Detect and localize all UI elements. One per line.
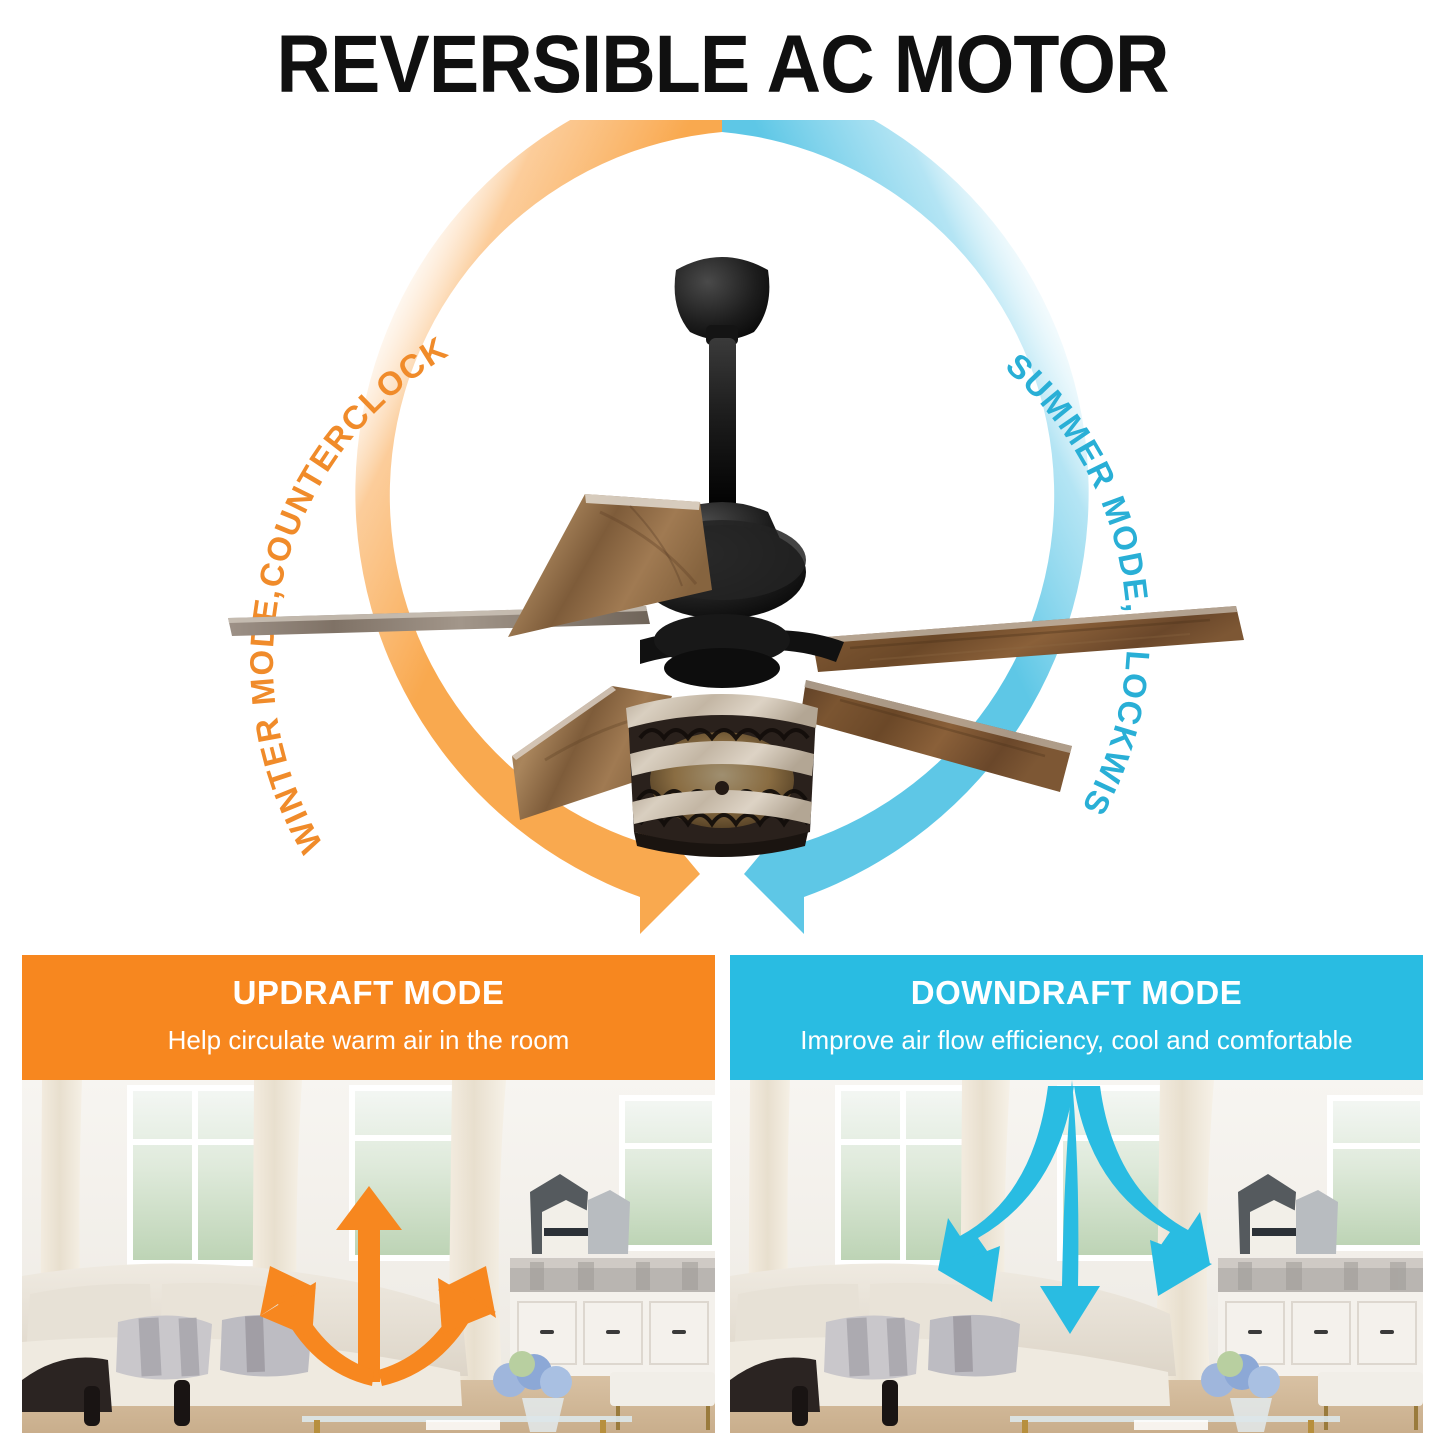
- panel-downdraft-title: DOWNDRAFT MODE: [730, 975, 1423, 1011]
- rotation-arrows-diagram: WINTER MODE,COUNTERCLOCKWISE SUMMER MODE…: [0, 120, 1445, 940]
- panel-updraft-title: UPDRAFT MODE: [22, 975, 715, 1011]
- panel-updraft-photo: [22, 1080, 715, 1433]
- mode-panels: UPDRAFT MODE Help circulate warm air in …: [0, 955, 1445, 1445]
- light-fixture-icon: [626, 694, 818, 857]
- panel-updraft-subtitle: Help circulate warm air in the room: [22, 1025, 715, 1056]
- panel-downdraft: DOWNDRAFT MODE Improve air flow efficien…: [730, 955, 1423, 1433]
- panel-downdraft-header: DOWNDRAFT MODE Improve air flow efficien…: [730, 955, 1423, 1080]
- panel-updraft-header: UPDRAFT MODE Help circulate warm air in …: [22, 955, 715, 1080]
- panel-downdraft-subtitle: Improve air flow efficiency, cool and co…: [730, 1025, 1423, 1056]
- infographic-page: REVERSIBLE AC MOTOR: [0, 0, 1445, 1445]
- reversible-motor-diagram: WINTER MODE,COUNTERCLOCKWISE SUMMER MODE…: [0, 120, 1445, 940]
- panel-updraft: UPDRAFT MODE Help circulate warm air in …: [22, 955, 715, 1433]
- page-title: REVERSIBLE AC MOTOR: [58, 18, 1387, 112]
- panel-downdraft-photo: [730, 1080, 1423, 1433]
